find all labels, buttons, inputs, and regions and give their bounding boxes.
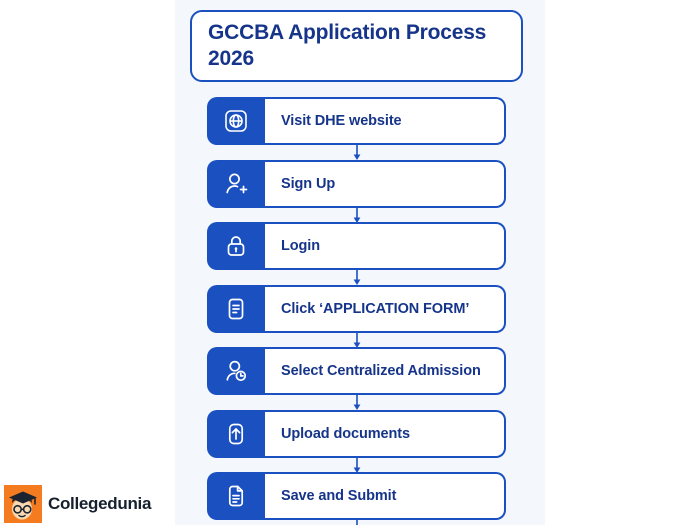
page-title-card: GCCBA Application Process 2026 xyxy=(190,10,523,82)
process-step-label: Save and Submit xyxy=(281,488,396,504)
process-step: Sign Up xyxy=(207,160,506,208)
process-step-label: Visit DHE website xyxy=(281,113,402,129)
process-step-label-container: Save and Submit xyxy=(265,472,506,520)
process-step-label-container: Login xyxy=(265,222,506,270)
process-step-label: Click ‘APPLICATION FORM’ xyxy=(281,301,469,317)
process-steps-list: Visit DHE website Sign Up xyxy=(207,97,506,525)
process-step-label: Select Centralized Admission xyxy=(281,363,481,379)
connector-arrow-down-icon xyxy=(351,333,363,348)
connector-arrow-down-icon xyxy=(351,208,363,223)
process-step: Login xyxy=(207,222,506,270)
process-step: Save and Submit xyxy=(207,472,506,520)
process-step-label: Login xyxy=(281,238,320,254)
upload-icon xyxy=(207,410,265,458)
collegedunia-watermark: Collegedunia xyxy=(4,485,151,523)
process-step-label: Sign Up xyxy=(281,176,335,192)
process-step-label: Upload documents xyxy=(281,426,410,442)
process-step: Click ‘APPLICATION FORM’ xyxy=(207,285,506,333)
lock-icon xyxy=(207,222,265,270)
infographic-panel: GCCBA Application Process 2026 Visit DHE… xyxy=(175,0,545,525)
connector-arrow-down-icon xyxy=(351,270,363,285)
process-step: Select Centralized Admission xyxy=(207,347,506,395)
user-clock-icon xyxy=(207,347,265,395)
connector-arrow-down-icon xyxy=(351,520,363,525)
collegedunia-graduate-logo xyxy=(4,485,42,523)
globe-icon xyxy=(207,97,265,145)
process-step-label-container: Upload documents xyxy=(265,410,506,458)
process-step-label-container: Click ‘APPLICATION FORM’ xyxy=(265,285,506,333)
collegedunia-watermark-label: Collegedunia xyxy=(48,494,151,514)
document-icon xyxy=(207,285,265,333)
process-step: Visit DHE website xyxy=(207,97,506,145)
document-fold-icon xyxy=(207,472,265,520)
connector-arrow-down-icon xyxy=(351,145,363,160)
page-title: GCCBA Application Process 2026 xyxy=(208,20,505,71)
user-plus-icon xyxy=(207,160,265,208)
connector-arrow-down-icon xyxy=(351,395,363,410)
process-step: Upload documents xyxy=(207,410,506,458)
process-step-label-container: Visit DHE website xyxy=(265,97,506,145)
process-step-label-container: Sign Up xyxy=(265,160,506,208)
connector-arrow-down-icon xyxy=(351,458,363,473)
process-step-label-container: Select Centralized Admission xyxy=(265,347,506,395)
